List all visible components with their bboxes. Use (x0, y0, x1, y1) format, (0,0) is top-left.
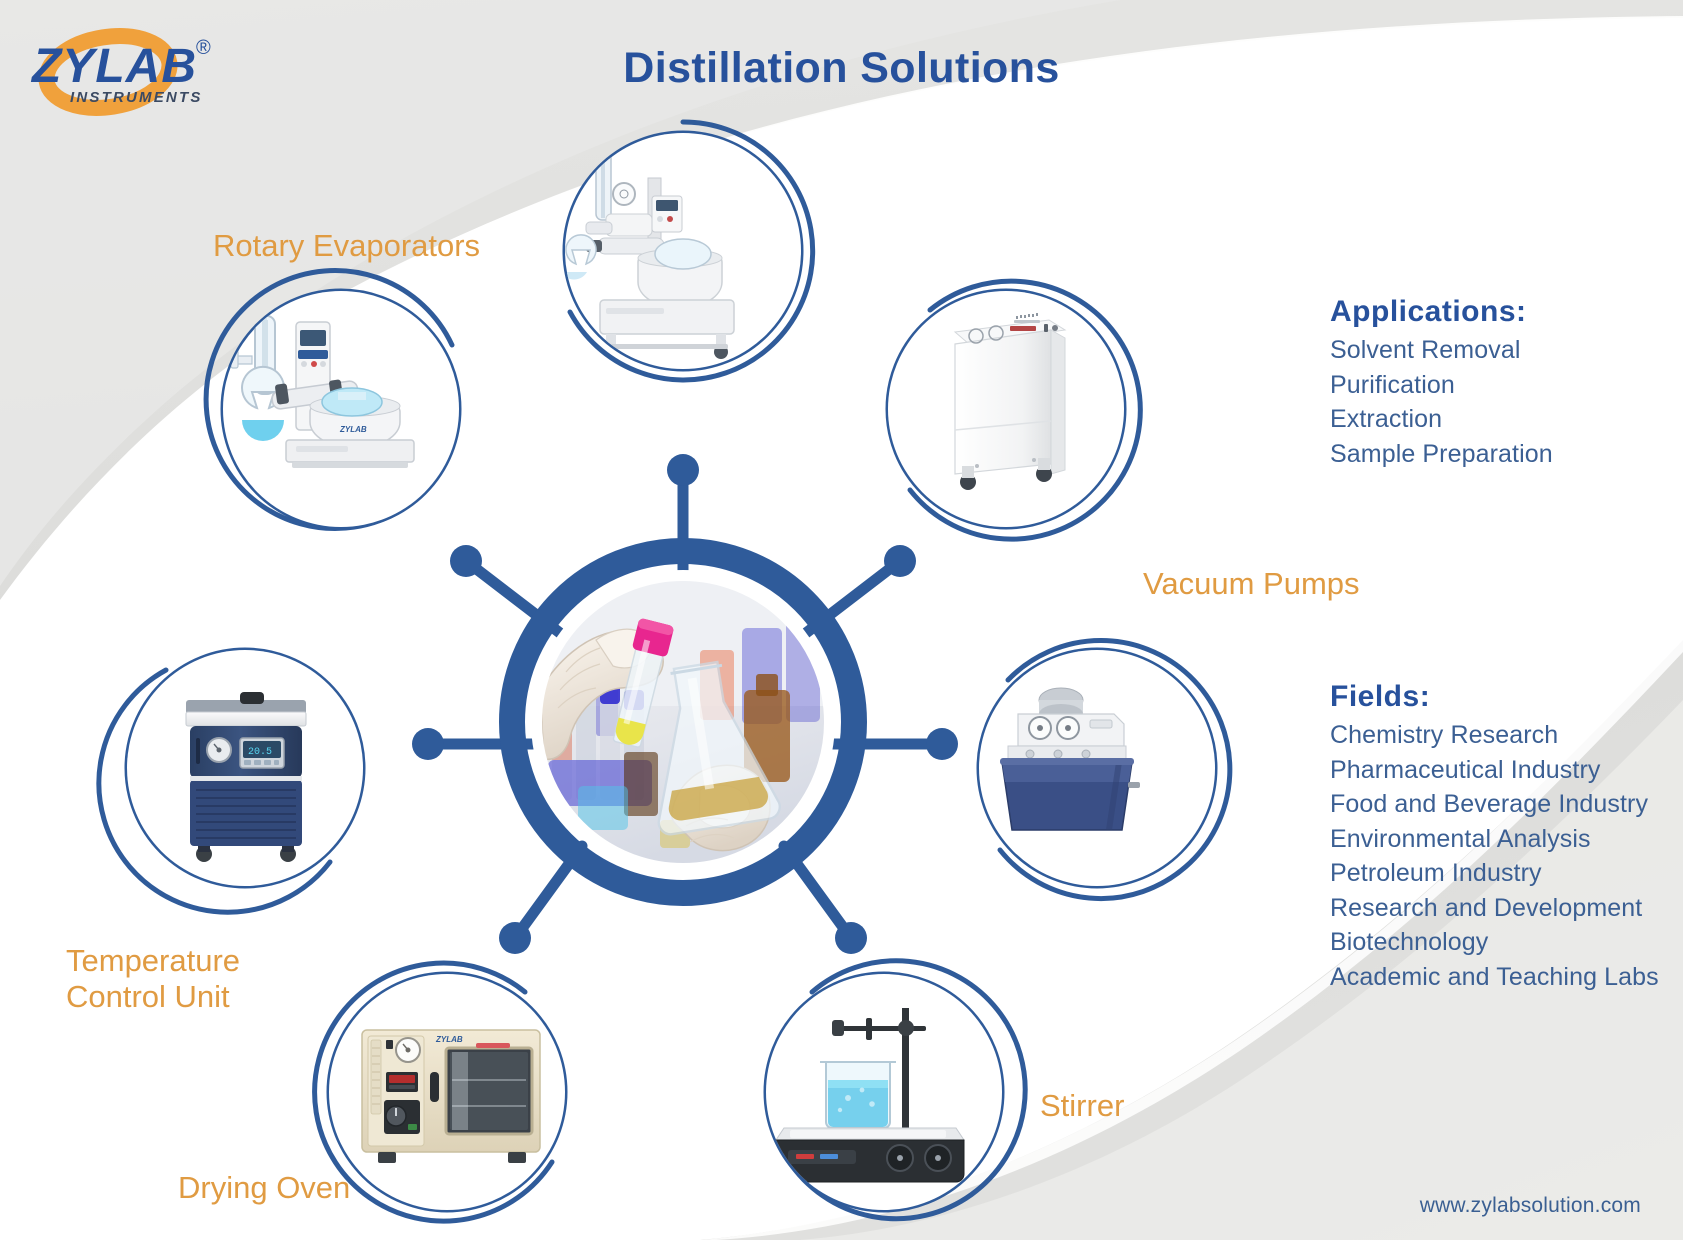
node-image-circulating-water-vacuum-pump (979, 650, 1215, 886)
label-temperature-control-unit: Temperature Control Unit (66, 943, 240, 1015)
poster-canvas: ZYLAB ® INSTRUMENTS Distillation Solutio… (0, 0, 1683, 1240)
fields-panel: Fields: Chemistry Research Pharmaceutica… (1330, 680, 1659, 994)
list-item: Petroleum Industry (1330, 856, 1659, 891)
list-item: Environmental Analysis (1330, 822, 1659, 857)
fields-heading: Fields: (1330, 680, 1659, 714)
page-title: Distillation Solutions (0, 44, 1683, 93)
list-item: Sample Preparation (1330, 437, 1553, 472)
node-image-vacuum-drying-oven: ZYLAB (329, 974, 565, 1210)
applications-panel: Applications: Solvent Removal Purificati… (1330, 295, 1553, 471)
label-stirrer: Stirrer (1040, 1088, 1124, 1124)
label-drying-oven: Drying Oven (178, 1170, 350, 1206)
label-vacuum-pumps: Vacuum Pumps (1143, 566, 1360, 602)
node-image-magnetic-stirrer-hotplate (766, 974, 1002, 1210)
fields-list: Chemistry Research Pharmaceutical Indust… (1330, 718, 1659, 994)
svg-text:ZYLAB: ZYLAB (339, 425, 367, 434)
node-image-vacuum-pump-cabinet (888, 291, 1124, 527)
applications-list: Solvent Removal Purification Extraction … (1330, 333, 1553, 471)
node-image-rotary-evaporator-bench: ZYLAB (223, 291, 459, 527)
page-title-text: Distillation Solutions (623, 44, 1059, 93)
list-item: Pharmaceutical Industry (1330, 753, 1659, 788)
list-item: Research and Development (1330, 891, 1659, 926)
list-item: Academic and Teaching Labs (1330, 960, 1659, 995)
applications-heading: Applications: (1330, 295, 1553, 329)
svg-text:20.5: 20.5 (248, 747, 272, 758)
svg-text:ZYLAB: ZYLAB (435, 1035, 463, 1044)
website-url[interactable]: www.zylabsolution.com (1420, 1194, 1641, 1218)
label-rotary-evaporators: Rotary Evaporators (213, 228, 480, 264)
hub-and-spoke-diagram: ZYLAB (0, 0, 1683, 1240)
list-item: Food and Beverage Industry (1330, 787, 1659, 822)
node-image-recirculating-chiller: 20.5 (127, 650, 363, 886)
list-item: Purification (1330, 368, 1553, 403)
list-item: Biotechnology (1330, 925, 1659, 960)
list-item: Solvent Removal (1330, 333, 1553, 368)
list-item: Extraction (1330, 402, 1553, 437)
list-item: Chemistry Research (1330, 718, 1659, 753)
